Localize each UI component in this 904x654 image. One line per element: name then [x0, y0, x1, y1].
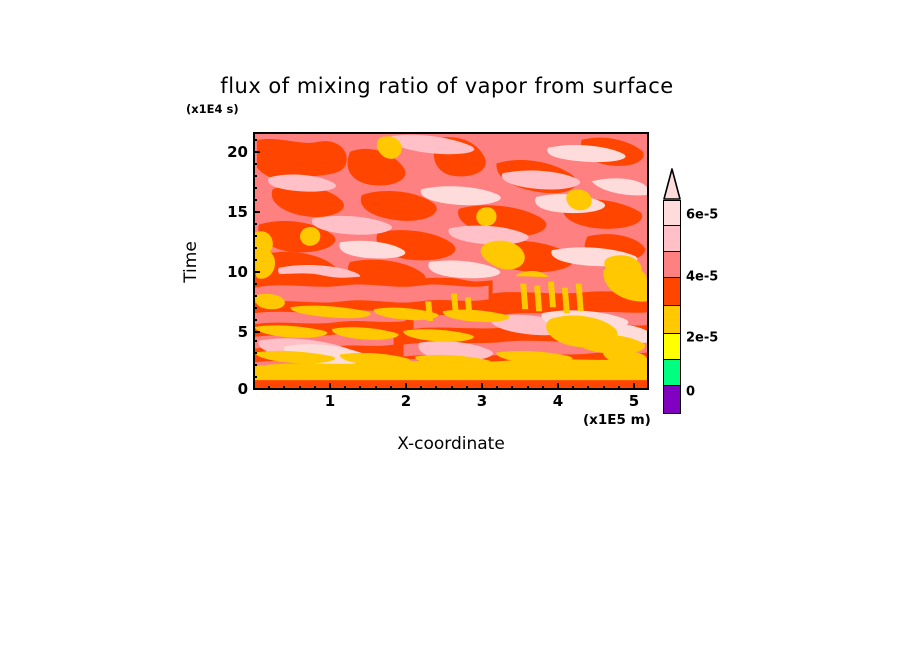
- colorbar-band-orange-red: [663, 278, 681, 306]
- colorbar-label-2e-5: 2e-5: [686, 331, 718, 346]
- y-tick-minor: [253, 199, 257, 201]
- y-tick-minor: [253, 187, 257, 189]
- y-tick-minor: [253, 247, 257, 249]
- x-tick-minor: [527, 386, 529, 390]
- x-tick-3: [481, 383, 483, 390]
- colorbar: [663, 168, 681, 392]
- y-tick-minor: [253, 163, 257, 165]
- x-tick-minor: [390, 386, 392, 390]
- contour-plot: [255, 134, 647, 388]
- x-tick-label: 4: [553, 392, 563, 410]
- y-tick-minor: [253, 340, 257, 342]
- y-tick-label: 10: [218, 263, 248, 281]
- x-tick-minor: [466, 386, 468, 390]
- x-tick-minor: [435, 386, 437, 390]
- y-tick-minor: [253, 376, 257, 378]
- x-tick-minor: [587, 386, 589, 390]
- colorbar-band-amber: [663, 306, 681, 334]
- y-tick-0: [253, 388, 260, 390]
- x-tick-label: 5: [629, 392, 639, 410]
- x-tick-minor: [420, 386, 422, 390]
- y-tick-minor: [253, 352, 257, 354]
- y-tick-minor: [253, 175, 257, 177]
- y-tick-5: [253, 331, 260, 333]
- y-tick-minor: [253, 139, 257, 141]
- x-tick-label: 2: [401, 392, 411, 410]
- y-tick-minor: [253, 223, 257, 225]
- y-tick-20: [253, 151, 260, 153]
- y-tick-15: [253, 211, 260, 213]
- colorbar-band-spring-green: [663, 360, 681, 386]
- x-tick-minor: [572, 386, 574, 390]
- y-tick-label: 0: [228, 380, 248, 398]
- x-tick-minor: [344, 386, 346, 390]
- x-tick-minor: [359, 386, 361, 390]
- colorbar-band-yellow: [663, 334, 681, 360]
- x-tick-label: 3: [477, 392, 487, 410]
- y-tick-10: [253, 271, 260, 273]
- y-tick-minor: [253, 307, 257, 309]
- x-tick-1: [329, 383, 331, 390]
- y-tick-label: 15: [218, 203, 248, 221]
- y-axis-unit-label: (x1E4 s): [186, 102, 239, 116]
- y-tick-label: 20: [218, 143, 248, 161]
- title-text: flux of mixing ratio of vapor from surfa…: [220, 74, 673, 98]
- x-tick-minor: [314, 386, 316, 390]
- colorbar-band-salmon: [663, 252, 681, 278]
- x-tick-minor: [451, 386, 453, 390]
- x-tick-label: 1: [325, 392, 335, 410]
- y-tick-minor: [253, 295, 257, 297]
- y-tick-minor: [253, 259, 257, 261]
- x-tick-minor: [603, 386, 605, 390]
- x-axis-unit-label: (x1E5 m): [583, 412, 651, 428]
- x-tick-minor: [542, 386, 544, 390]
- x-tick-minor: [299, 386, 301, 390]
- x-tick-4: [557, 383, 559, 390]
- y-axis-title: Time: [181, 241, 201, 283]
- colorbar-label-0: 0: [686, 385, 695, 400]
- colorbar-label-6e-5: 6e-5: [686, 208, 718, 223]
- colorbar-label-4e-5: 4e-5: [686, 270, 718, 285]
- colorbar-band-purple: [663, 386, 681, 414]
- x-tick-minor: [511, 386, 513, 390]
- colorbar-band-light-pink: [663, 226, 681, 252]
- x-tick-minor: [375, 386, 377, 390]
- x-tick-minor: [283, 386, 285, 390]
- x-tick-minor: [618, 386, 620, 390]
- x-axis-title: X-coordinate: [397, 434, 505, 454]
- y-tick-minor: [253, 364, 257, 366]
- figure-canvas: flux of mixing ratio of vapor from surfa…: [0, 0, 904, 654]
- y-tick-minor: [253, 283, 257, 285]
- colorbar-band-pale-pink: [663, 200, 681, 226]
- x-tick-minor: [496, 386, 498, 390]
- plot-area: [253, 132, 649, 390]
- x-tick-minor: [268, 386, 270, 390]
- page-title: flux of mixing ratio of vapor from surfa…: [0, 74, 904, 98]
- y-tick-label: 5: [228, 323, 248, 341]
- y-tick-minor: [253, 235, 257, 237]
- x-tick-5: [633, 383, 635, 390]
- y-tick-minor: [253, 319, 257, 321]
- x-tick-2: [405, 383, 407, 390]
